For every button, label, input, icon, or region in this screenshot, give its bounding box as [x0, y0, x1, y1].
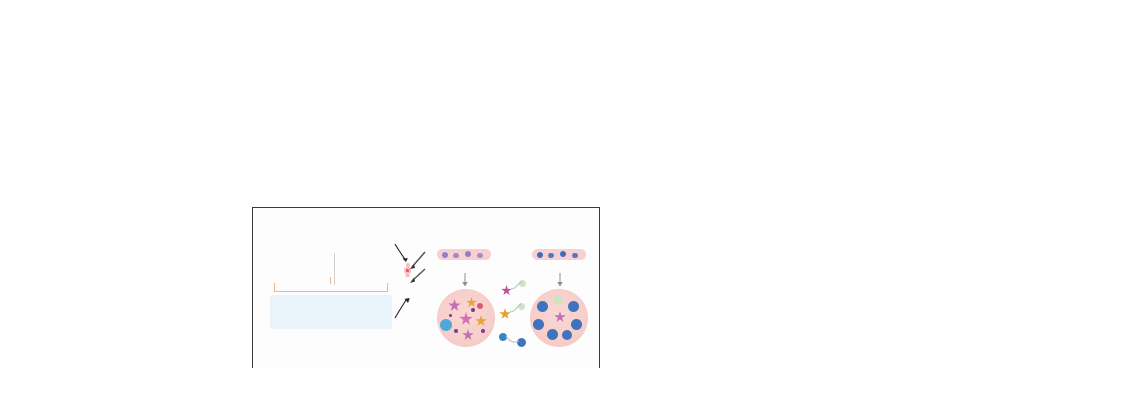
ga-strip-cell — [572, 253, 578, 259]
ga-strip-cell — [477, 253, 483, 259]
ga-strip-cell — [560, 251, 566, 257]
ga-immune-cell — [571, 319, 582, 330]
ga-strip-cell — [442, 252, 448, 258]
ga-immune-cell — [562, 330, 572, 340]
ga-trial-design-panel — [258, 211, 426, 367]
ga-immune-cell — [547, 329, 558, 340]
ga-immune-cell — [568, 301, 579, 312]
ga-immune-cell — [477, 303, 483, 309]
ga-immune-cell — [440, 319, 452, 331]
ga-immune-cell — [553, 295, 563, 305]
article-preview-page — [0, 0, 1143, 400]
ga-immune-cell — [454, 329, 458, 333]
ga-immune-cell — [481, 329, 485, 333]
ga-strip-cell — [537, 252, 543, 258]
ga-immune-cell — [471, 308, 475, 312]
ga-down-arrow-icon-right — [556, 273, 564, 287]
graphical-abstract-figure[interactable] — [252, 207, 600, 368]
ga-strip-cell — [453, 253, 459, 259]
ga-strip-cell — [548, 253, 554, 259]
ga-strip-cell — [465, 251, 471, 257]
ga-down-arrow-icon-left — [461, 273, 469, 287]
ga-biopsy-needles-icon — [408, 247, 430, 289]
ga-immune-features-panel — [429, 211, 597, 367]
graphical-abstract-canvas — [253, 208, 598, 368]
ga-flow-arrows-icon — [258, 211, 428, 367]
ga-immune-cell — [537, 301, 548, 312]
ga-interaction-links-icon — [495, 275, 535, 355]
